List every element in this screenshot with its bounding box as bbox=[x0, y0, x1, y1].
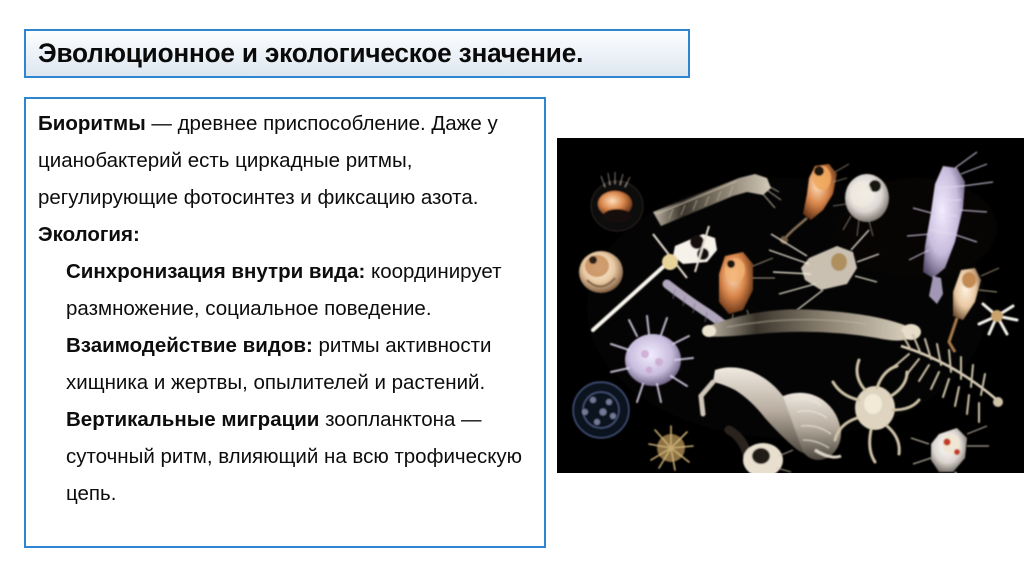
content-box: Биоритмы — древнее приспособление. Даже … bbox=[24, 97, 546, 548]
paragraph-bioritmy: Биоритмы — древнее приспособление. Даже … bbox=[38, 105, 538, 216]
text-run-bioritmy-0: Биоритмы bbox=[38, 112, 146, 135]
zooplankton-photo bbox=[557, 138, 1024, 473]
text-run-vzaimodeystvie-0: Взаимодействие видов: bbox=[66, 334, 313, 357]
text-run-vertikalnye-migracii-0: Вертикальные миграции bbox=[66, 408, 319, 431]
paragraph-sinhronizaciya: Синхронизация внутри вида: координирует … bbox=[38, 253, 538, 327]
paragraph-vertikalnye-migracii: Вертикальные миграции зоопланктона — сут… bbox=[38, 401, 538, 512]
slide-title-box: Эволюционное и экологическое значение. bbox=[24, 29, 690, 78]
paragraph-vzaimodeystvie: Взаимодействие видов: ритмы активности х… bbox=[38, 327, 538, 401]
text-run-sinhronizaciya-0: Синхронизация внутри вида: bbox=[66, 260, 365, 283]
body-text-block: Биоритмы — древнее приспособление. Даже … bbox=[38, 105, 538, 512]
text-run-ekologiya-heading-0: Экология: bbox=[38, 223, 140, 246]
paragraph-ekologiya-heading: Экология: bbox=[38, 216, 538, 253]
page-title: Эволюционное и экологическое значение. bbox=[38, 38, 583, 69]
